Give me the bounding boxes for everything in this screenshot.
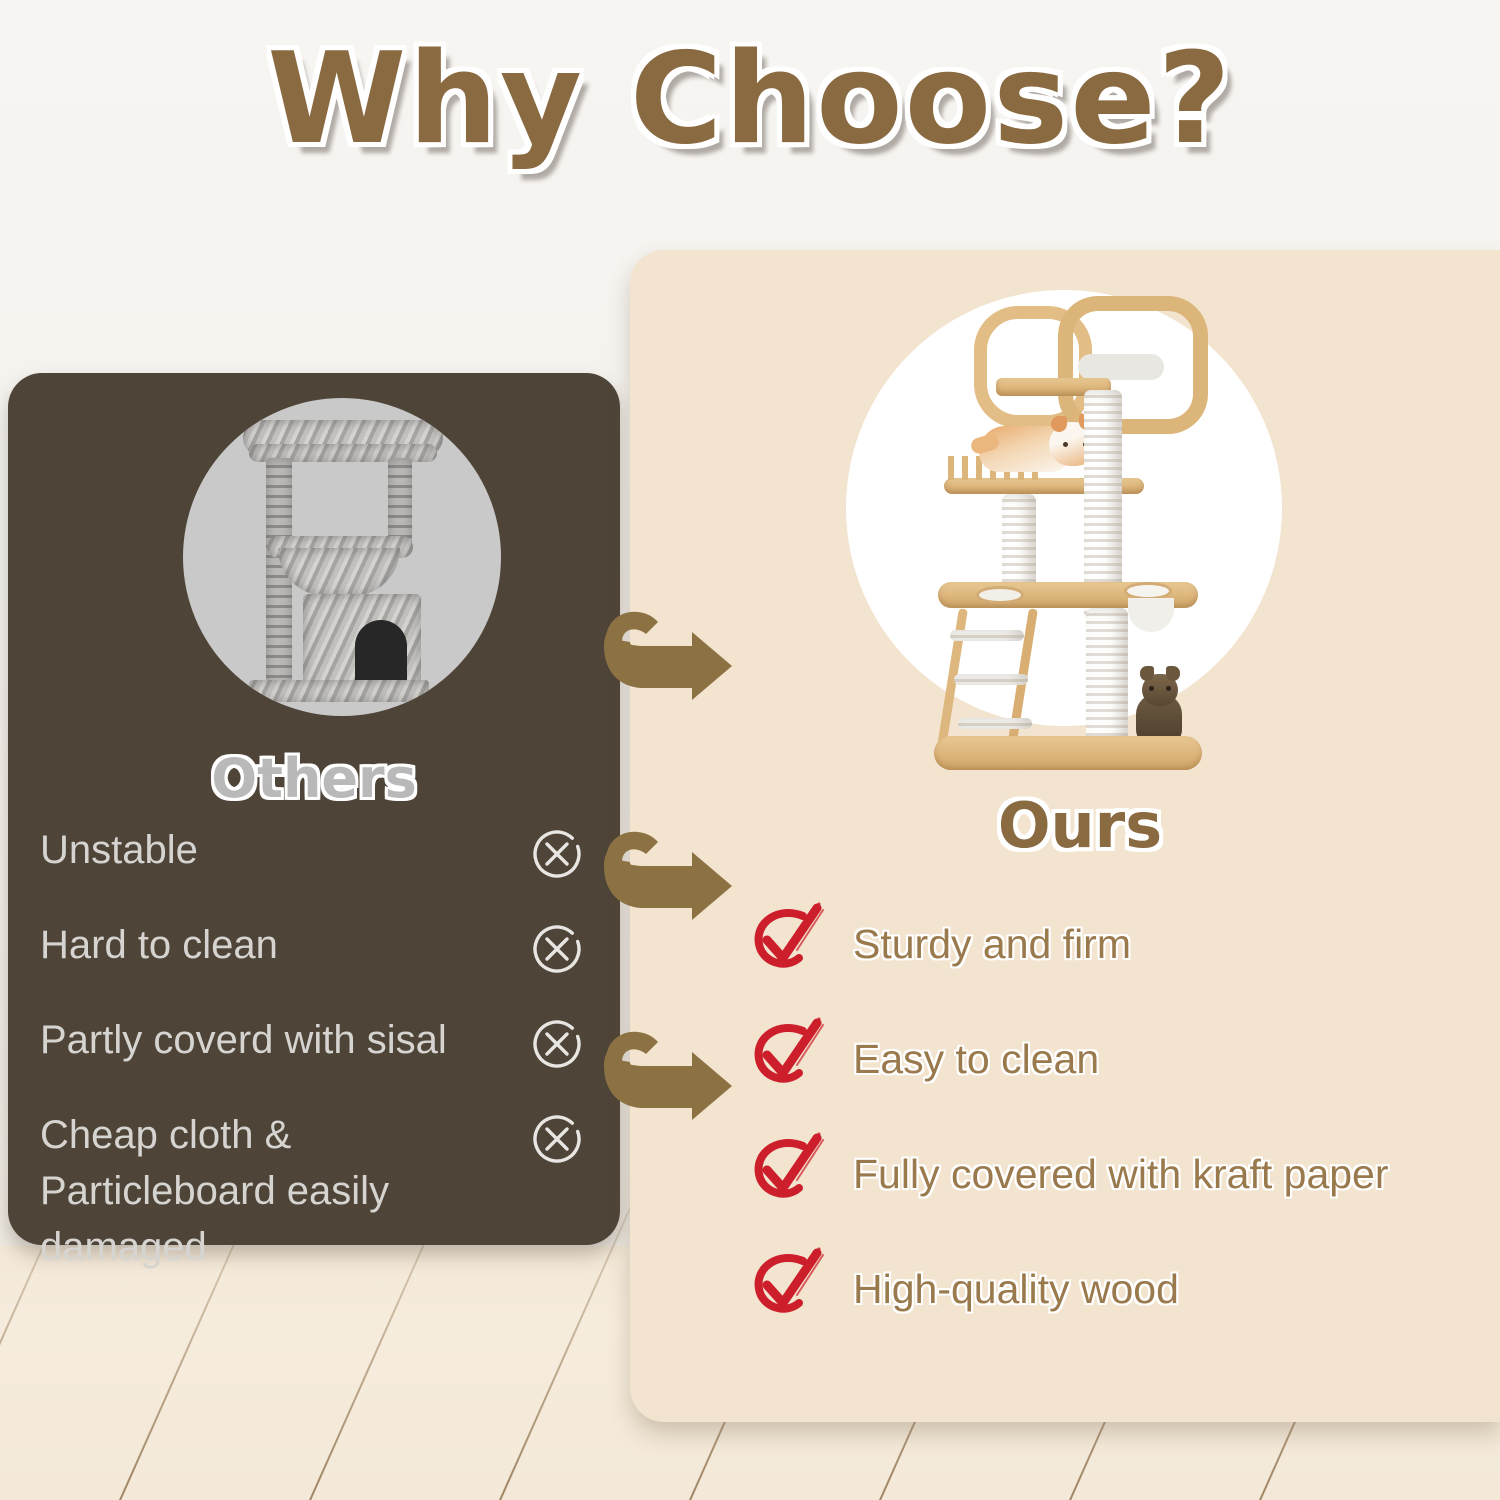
list-item: Easy to clean bbox=[745, 1015, 1485, 1102]
ours-product-photo bbox=[846, 290, 1282, 726]
list-item: Fully covered with kraft paper bbox=[745, 1130, 1485, 1217]
con-label: Cheap cloth & Particleboard easily damag… bbox=[40, 1107, 480, 1275]
curved-arrow-right-icon bbox=[596, 820, 748, 925]
circle-x-icon bbox=[529, 826, 585, 887]
con-label: Unstable bbox=[40, 822, 198, 878]
orange-cat bbox=[971, 402, 1101, 478]
plush-base bbox=[249, 680, 429, 702]
curved-arrow-right-icon bbox=[596, 600, 748, 705]
tunnel-cushion bbox=[1078, 354, 1164, 380]
pro-label: Fully covered with kraft paper bbox=[853, 1147, 1389, 1201]
pro-label: High-quality wood bbox=[853, 1262, 1179, 1316]
wood-ladder bbox=[944, 608, 1036, 748]
list-item: Cheap cloth & Particleboard easily damag… bbox=[40, 1107, 585, 1275]
red-brush-check-icon bbox=[745, 1130, 827, 1217]
others-label: Others bbox=[8, 752, 620, 806]
red-brush-check-icon bbox=[745, 1245, 827, 1332]
pro-label: Sturdy and firm bbox=[853, 917, 1131, 971]
list-item: Partly coverd with sisal bbox=[40, 1012, 585, 1077]
tabby-kitten bbox=[1130, 658, 1186, 744]
curved-arrow-right-icon bbox=[596, 1020, 748, 1125]
con-label: Partly coverd with sisal bbox=[40, 1012, 447, 1068]
page-title: Why Choose? bbox=[0, 36, 1500, 162]
circle-x-icon bbox=[529, 1111, 585, 1172]
circle-x-icon bbox=[529, 921, 585, 982]
sisal-post-main bbox=[1086, 608, 1128, 748]
list-item: High-quality wood bbox=[745, 1245, 1485, 1332]
ours-pros-list: Sturdy and firm Easy to clean Fully cove… bbox=[745, 900, 1485, 1360]
red-brush-check-icon bbox=[745, 1015, 827, 1102]
list-item: Unstable bbox=[40, 822, 585, 887]
red-brush-check-icon bbox=[745, 900, 827, 987]
list-item: Hard to clean bbox=[40, 917, 585, 982]
ours-label: Ours bbox=[700, 795, 1460, 857]
circle-x-icon bbox=[529, 1016, 585, 1077]
con-label: Hard to clean bbox=[40, 917, 278, 973]
list-item: Sturdy and firm bbox=[745, 900, 1485, 987]
others-product-photo bbox=[183, 398, 501, 716]
hanging-basket bbox=[1128, 598, 1174, 632]
wood-base bbox=[934, 736, 1202, 770]
plush-hammock-bowl bbox=[278, 548, 400, 596]
food-bowl-left bbox=[976, 586, 1024, 604]
others-cons-list: Unstable Hard to clean Partly coverd wit… bbox=[40, 822, 585, 1305]
pro-label: Easy to clean bbox=[853, 1032, 1099, 1086]
